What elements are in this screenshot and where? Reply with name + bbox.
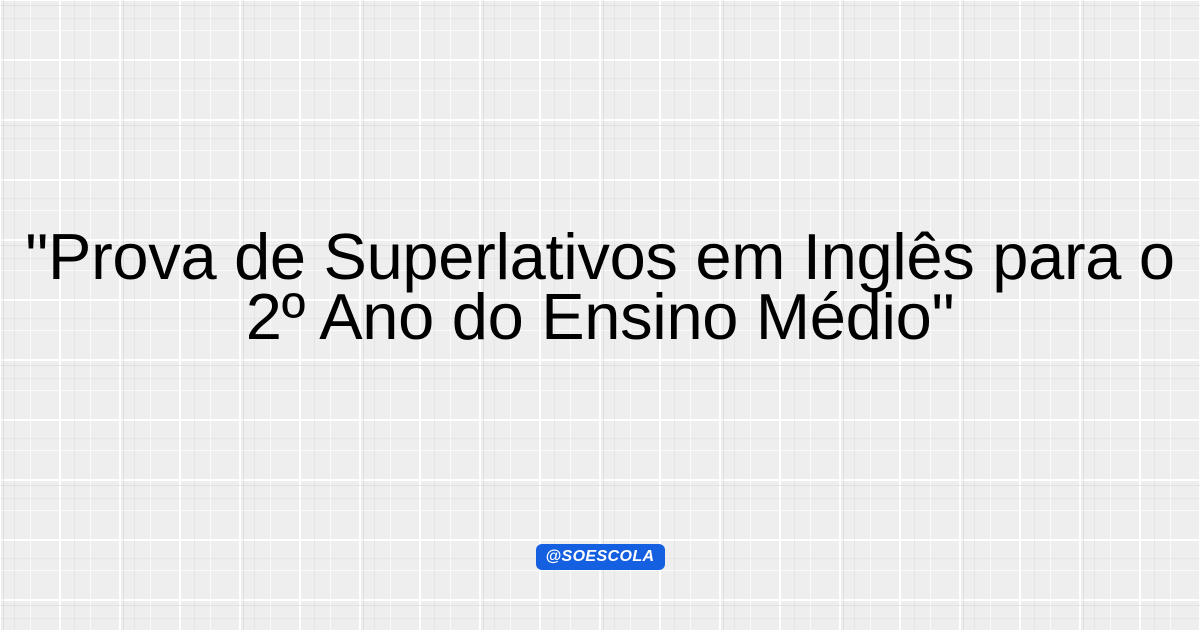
status-badge: @SOESCOLA xyxy=(536,544,665,570)
title-block: "Prova de Superlativos em Inglês para o … xyxy=(0,0,1200,630)
badge-container: @SOESCOLA xyxy=(0,544,1200,570)
page-title: "Prova de Superlativos em Inglês para o … xyxy=(25,227,1175,347)
banner-card: "Prova de Superlativos em Inglês para o … xyxy=(0,0,1200,630)
